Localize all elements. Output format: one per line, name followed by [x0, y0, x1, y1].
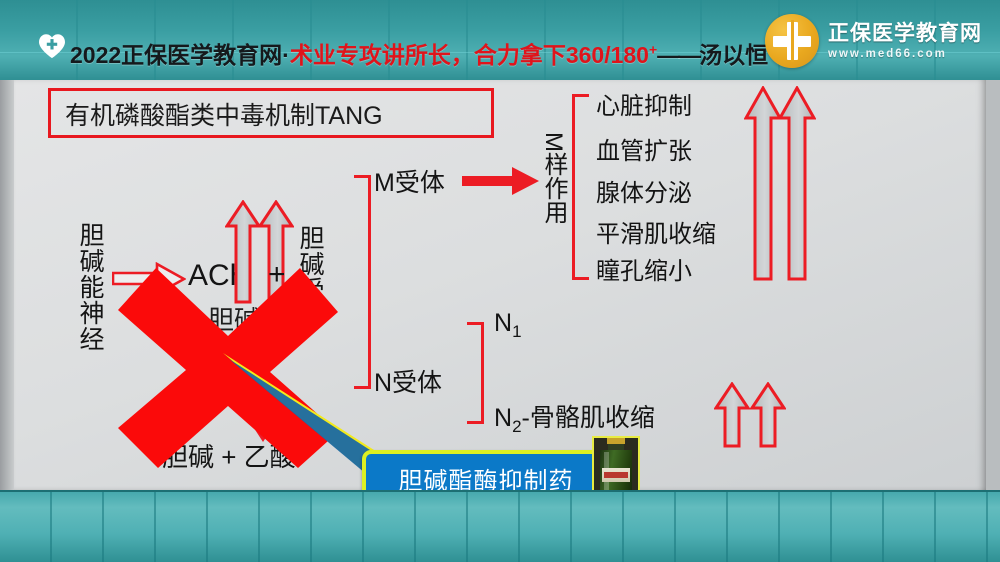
heart-cross-icon: [38, 33, 66, 59]
node-n2-letter: N: [494, 404, 512, 432]
node-n2-subscript: 2: [512, 417, 521, 436]
m-effect-item-2: 血管扩张: [596, 131, 692, 166]
m-effect-item-5: 瞳孔缩小: [596, 251, 692, 286]
m-effect-item-3: 腺体分泌: [596, 173, 692, 208]
footer-grid-lines: [0, 492, 1000, 562]
title-superscript: +: [649, 41, 657, 57]
gold-cross-circle-logo-icon: [765, 14, 819, 68]
node-n2: N2-骨骼肌收缩: [494, 398, 655, 437]
node-n1-letter: N: [494, 309, 512, 337]
presentation-slide: 2022正保医学教育网·术业专攻讲所长，合力拿下360/180+——汤以恒 正保…: [0, 0, 1000, 562]
bracket-m-effects: [572, 94, 589, 280]
node-cholinergic-nerve: 胆碱能神经: [72, 222, 108, 382]
slide-header-bar: 2022正保医学教育网·术业专攻讲所长，合力拿下360/180+——汤以恒 正保…: [0, 0, 1000, 80]
node-m-receptor: M受体: [374, 163, 445, 199]
page-title: 2022正保医学教育网·术业专攻讲所长，合力拿下360/180+——汤以恒: [70, 36, 768, 70]
title-dash: ——: [657, 42, 699, 68]
diagram-title-text: 有机磷酸酯类中毒机制TANG: [65, 96, 383, 132]
m-effect-item-1: 心脏抑制: [596, 86, 692, 121]
bracket-n-split: [467, 322, 484, 424]
brand-logo[interactable]: 正保医学教育网 www.med66.com: [765, 12, 982, 70]
node-n1: N1: [494, 309, 522, 342]
up-arrow-right-tall-1-icon: [744, 86, 782, 282]
up-arrow-right-short-1-icon: [714, 382, 750, 448]
title-author: 汤以恒: [699, 42, 768, 68]
title-red-part: 术业专攻讲所长，合力拿下360/180: [290, 42, 649, 68]
arrow-m-receptor-to-effect-icon: [462, 165, 540, 197]
up-arrow-right-short-2-icon: [750, 382, 786, 448]
logo-url: www.med66.com: [828, 48, 982, 60]
title-prefix: 2022正保医学教育网·: [70, 42, 290, 68]
node-n1-subscript: 1: [512, 322, 521, 341]
node-m-effect: M样作用: [536, 132, 571, 224]
diagram-title-box: 有机磷酸酯类中毒机制TANG: [48, 88, 494, 138]
logo-name-cn: 正保医学教育网: [828, 22, 982, 45]
slide-footer-bar: [0, 490, 1000, 562]
node-n2-text: -骨骼肌收缩: [522, 404, 655, 432]
m-effect-item-4: 平滑肌收缩: [596, 214, 716, 249]
canvas-left-shadow: [0, 80, 14, 492]
up-arrow-right-tall-2-icon: [778, 86, 816, 282]
